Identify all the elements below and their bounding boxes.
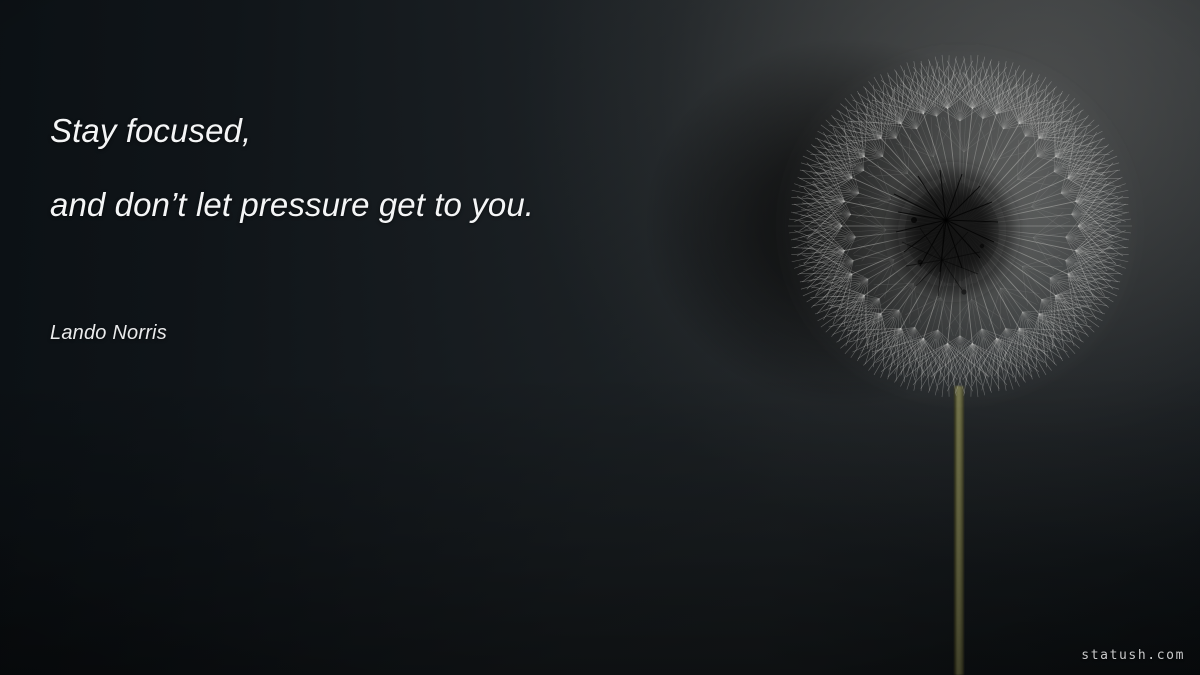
quote-card: Stay focused, and don’t let pressure get…: [0, 0, 1200, 675]
seed-head-halo: [772, 40, 1148, 412]
background-horizontal-gradient: [0, 0, 1200, 675]
background-floor-shading: [0, 0, 1200, 675]
background-base-gradient: [0, 0, 1200, 675]
quote-text-block: Stay focused, and don’t let pressure get…: [50, 110, 650, 226]
background-light-glow: [0, 0, 1200, 675]
dandelion-stem: [954, 386, 964, 675]
seed-head-rays: [782, 49, 1137, 404]
watermark: statush.com: [1081, 648, 1185, 663]
background-flower-shadow: [0, 0, 1200, 675]
dandelion-photo: [768, 14, 1200, 675]
quote-author: Lando Norris: [50, 320, 167, 346]
seed-head-core: [880, 158, 1024, 306]
quote-line-1: Stay focused,: [50, 110, 650, 151]
quote-line-2: and don’t let pressure get to you.: [50, 184, 650, 225]
background-vignette: [0, 0, 1200, 675]
